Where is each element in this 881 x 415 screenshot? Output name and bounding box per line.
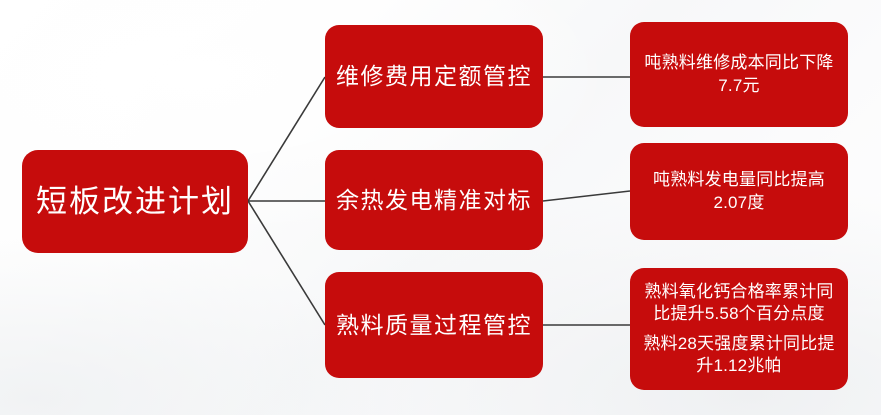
detail-node-power-generation-result[interactable]: 吨熟料发电量同比提高2.07度 xyxy=(630,143,848,240)
connector-root-to-branch-1 xyxy=(248,77,325,201)
connector-root-to-branch-3 xyxy=(248,201,325,325)
diagram-canvas: 短板改进计划 维修费用定额管控 余热发电精准对标 熟料质量过程管控 吨熟料维修成… xyxy=(0,0,881,415)
detail-text: 熟料氧化钙合格率累计同比提升5.58个百分点度 xyxy=(638,281,840,325)
connector-branch-2-to-detail-2 xyxy=(543,191,630,201)
detail-node-clinker-quality-result[interactable]: 熟料氧化钙合格率累计同比提升5.58个百分点度 熟料28天强度累计同比提升1.1… xyxy=(630,268,848,390)
detail-text: 熟料28天强度累计同比提升1.12兆帕 xyxy=(638,333,840,377)
branch-node-clinker-quality-process-control[interactable]: 熟料质量过程管控 xyxy=(325,272,543,378)
detail-text: 吨熟料维修成本同比下降7.7元 xyxy=(640,52,838,96)
root-node[interactable]: 短板改进计划 xyxy=(22,150,248,253)
detail-text: 吨熟料发电量同比提高2.07度 xyxy=(640,169,838,213)
branch-node-waste-heat-power-benchmarking[interactable]: 余热发电精准对标 xyxy=(325,150,543,250)
detail-node-maintenance-cost-result[interactable]: 吨熟料维修成本同比下降7.7元 xyxy=(630,22,848,127)
branch-node-maintenance-cost-quota-control[interactable]: 维修费用定额管控 xyxy=(325,25,543,128)
